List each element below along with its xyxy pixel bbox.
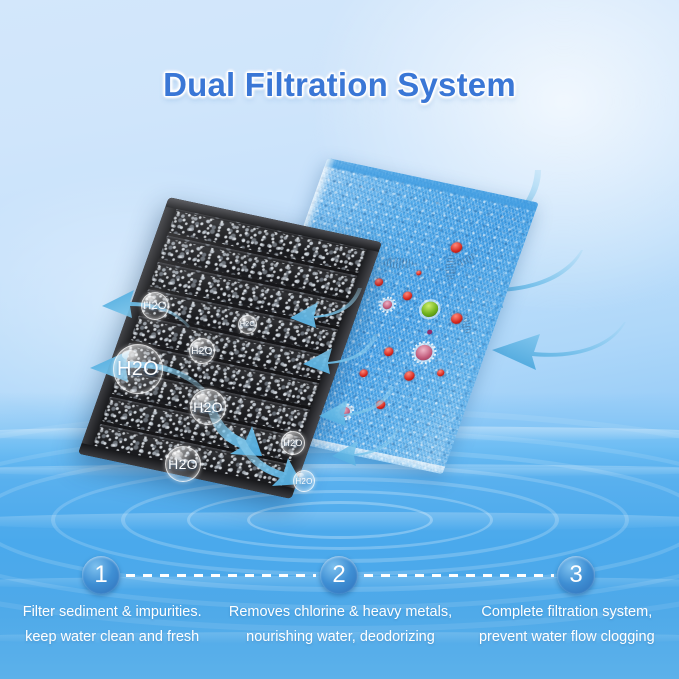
step-badge-2: 2 bbox=[320, 556, 358, 594]
transfer-arrow-1 bbox=[288, 284, 362, 328]
h2o-bubble: H2O bbox=[189, 338, 215, 364]
step-badge-number: 1 bbox=[94, 561, 107, 589]
h2o-bubble-label: H2O bbox=[117, 358, 159, 381]
step-badge-number: 3 bbox=[569, 561, 582, 589]
step-badge-3: 3 bbox=[557, 556, 595, 594]
h2o-bubble-label: H2O bbox=[193, 399, 223, 415]
step-connector-dashed-line bbox=[364, 574, 554, 577]
step-captions: Filter sediment & impurities. keep water… bbox=[0, 600, 679, 650]
microbe-virus bbox=[381, 300, 393, 310]
h2o-bubble-label: H2O bbox=[295, 477, 312, 486]
step-connector-dashed-line bbox=[126, 574, 316, 577]
steps-section: 1 2 3 Filter sediment & impurities. keep… bbox=[0, 548, 679, 679]
transfer-arrow-4 bbox=[330, 424, 400, 466]
step-caption-line-2: keep water clean and fresh bbox=[0, 625, 224, 650]
h2o-bubble: H2O bbox=[293, 470, 315, 492]
h2o-bubble: H2O bbox=[238, 315, 257, 334]
microbe-bacillus bbox=[383, 258, 413, 268]
step-caption-line-1: Complete filtration system, bbox=[455, 600, 679, 625]
transfer-arrow-3 bbox=[316, 382, 394, 426]
microbe-virus bbox=[413, 343, 434, 361]
h2o-bubble-label: H2O bbox=[168, 456, 198, 472]
step-badge-1: 1 bbox=[82, 556, 120, 594]
h2o-bubble: H2O bbox=[113, 344, 163, 394]
step-badge-row: 1 2 3 bbox=[0, 548, 679, 604]
h2o-bubble: H2O bbox=[141, 292, 169, 320]
microbe-bacillus bbox=[463, 317, 471, 334]
step-badge-number: 2 bbox=[332, 561, 345, 589]
h2o-bubble-label: H2O bbox=[143, 300, 167, 312]
step-caption-line-1: Removes chlorine & heavy metals, bbox=[228, 600, 452, 625]
h2o-bubble-label: H2O bbox=[191, 346, 212, 357]
step-caption-2: Removes chlorine & heavy metals, nourish… bbox=[228, 600, 452, 650]
infographic-canvas: Dual Filtration System bbox=[0, 0, 679, 679]
page-title: Dual Filtration System bbox=[0, 66, 679, 104]
h2o-bubble: H2O bbox=[190, 389, 226, 425]
h2o-bubble-label: H2O bbox=[240, 321, 255, 328]
step-caption-line-1: Filter sediment & impurities. bbox=[0, 600, 224, 625]
step-caption-3: Complete filtration system, prevent wate… bbox=[453, 600, 679, 650]
h2o-bubble: H2O bbox=[281, 431, 305, 455]
h2o-bubble: H2O bbox=[165, 446, 201, 482]
h2o-bubble-label: H2O bbox=[283, 438, 302, 448]
transfer-arrow-2 bbox=[300, 330, 378, 374]
step-caption-line-2: nourishing water, deodorizing bbox=[228, 625, 452, 650]
step-caption-1: Filter sediment & impurities. keep water… bbox=[0, 600, 228, 650]
step-caption-line-2: prevent water flow clogging bbox=[455, 625, 679, 650]
